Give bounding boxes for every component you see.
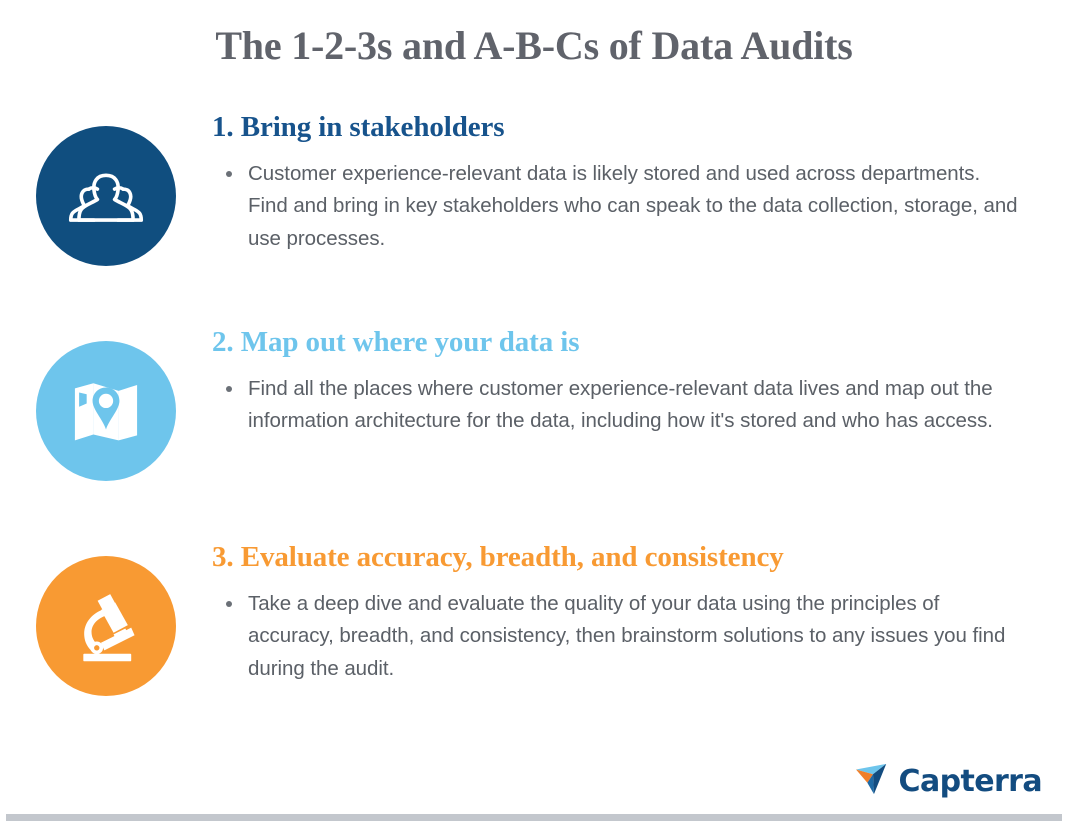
step-1-text-col: 1. Bring in stakeholders Customer experi… bbox=[212, 112, 1068, 255]
step-item-1: 1. Bring in stakeholders Customer experi… bbox=[0, 112, 1068, 327]
step-3-icon-badge bbox=[36, 556, 176, 696]
step-item-2: 2. Map out where your data is Find all t… bbox=[0, 327, 1068, 542]
paper-plane-icon bbox=[854, 762, 892, 801]
step-3-bullets: Take a deep dive and evaluate the qualit… bbox=[212, 588, 1022, 685]
step-2-icon-badge bbox=[36, 341, 176, 481]
step-item-3: 3. Evaluate accuracy, breadth, and consi… bbox=[0, 542, 1068, 757]
list-item: Find all the places where customer exper… bbox=[248, 373, 1022, 438]
steps-list: 1. Bring in stakeholders Customer experi… bbox=[0, 112, 1068, 757]
step-1-bullets: Customer experience-relevant data is lik… bbox=[212, 158, 1022, 255]
capterra-logo: Capterra bbox=[854, 762, 1042, 801]
step-2-text-col: 2. Map out where your data is Find all t… bbox=[212, 327, 1068, 438]
list-item: Customer experience-relevant data is lik… bbox=[248, 158, 1022, 255]
infographic-page: The 1-2-3s and A-B-Cs of Data Audits bbox=[0, 0, 1068, 827]
step-2-heading: 2. Map out where your data is bbox=[212, 327, 1022, 359]
step-1-icon-col bbox=[0, 112, 212, 266]
list-item: Take a deep dive and evaluate the qualit… bbox=[248, 588, 1022, 685]
capterra-wordmark: Capterra bbox=[899, 767, 1042, 797]
map-pin-icon bbox=[64, 369, 148, 453]
step-3-text-col: 3. Evaluate accuracy, breadth, and consi… bbox=[212, 542, 1068, 685]
step-1-icon-badge bbox=[36, 126, 176, 266]
bottom-divider bbox=[6, 814, 1062, 821]
step-1-heading: 1. Bring in stakeholders bbox=[212, 112, 1022, 144]
step-3-icon-col bbox=[0, 542, 212, 696]
step-2-bullets: Find all the places where customer exper… bbox=[212, 373, 1022, 438]
people-group-icon bbox=[63, 153, 149, 239]
page-title: The 1-2-3s and A-B-Cs of Data Audits bbox=[0, 22, 1068, 69]
step-2-icon-col bbox=[0, 327, 212, 481]
microscope-icon bbox=[64, 584, 148, 668]
step-3-heading: 3. Evaluate accuracy, breadth, and consi… bbox=[212, 542, 1022, 574]
